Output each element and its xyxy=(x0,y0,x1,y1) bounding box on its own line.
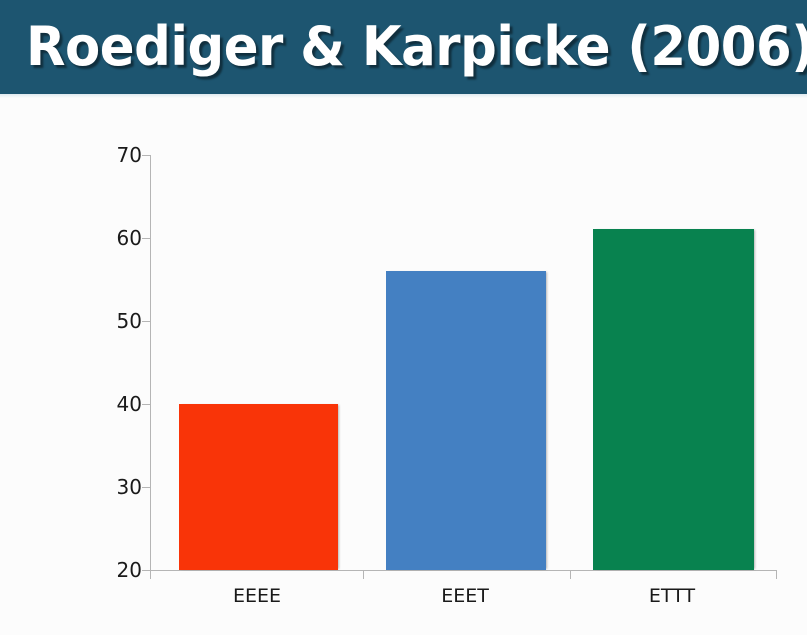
y-axis-label-50: 50 xyxy=(102,311,142,331)
x-axis-tick-1 xyxy=(363,570,364,579)
y-axis-label-20: 20 xyxy=(102,560,142,580)
x-axis-tick-start xyxy=(150,570,151,579)
x-axis-category-label-2: ETTT xyxy=(592,585,752,607)
y-axis-label-60: 60 xyxy=(102,228,142,248)
y-axis-tick-40 xyxy=(142,404,151,405)
bar-chart: 70 60 50 40 30 20 EEEE EEET ETTT xyxy=(0,94,807,635)
bar-eeet[interactable] xyxy=(386,271,546,570)
bar-eeee[interactable] xyxy=(179,404,338,570)
y-axis-line xyxy=(150,155,151,570)
x-axis-tick-end xyxy=(776,570,777,579)
slide-title-banner: Roediger & Karpicke (2006) xyxy=(0,0,807,94)
x-axis-tick-2 xyxy=(570,570,571,579)
y-axis-tick-50 xyxy=(142,321,151,322)
bar-ettt[interactable] xyxy=(593,229,754,570)
y-axis-label-50-wrap: 50 xyxy=(95,311,142,331)
x-axis-category-label-1: EEET xyxy=(385,585,545,607)
y-axis-label-40: 40 xyxy=(102,394,142,414)
y-axis-label-20-wrap: 20 xyxy=(95,560,142,580)
y-axis-label-30: 30 xyxy=(102,477,142,497)
x-axis-line xyxy=(150,570,776,571)
page-title: Roediger & Karpicke (2006) xyxy=(26,16,807,78)
y-axis-label-70: 70 xyxy=(102,145,142,165)
y-axis-tick-30 xyxy=(142,487,151,488)
y-axis-label-30-wrap: 30 xyxy=(95,477,142,497)
y-axis-label-40-wrap: 40 xyxy=(95,394,142,414)
y-axis-label-60-wrap: 60 xyxy=(95,228,142,248)
y-axis-tick-70 xyxy=(142,155,151,156)
x-axis-category-label-0: EEEE xyxy=(177,585,337,607)
y-axis-label-70-wrap: 70 xyxy=(95,145,142,165)
y-axis-tick-60 xyxy=(142,238,151,239)
